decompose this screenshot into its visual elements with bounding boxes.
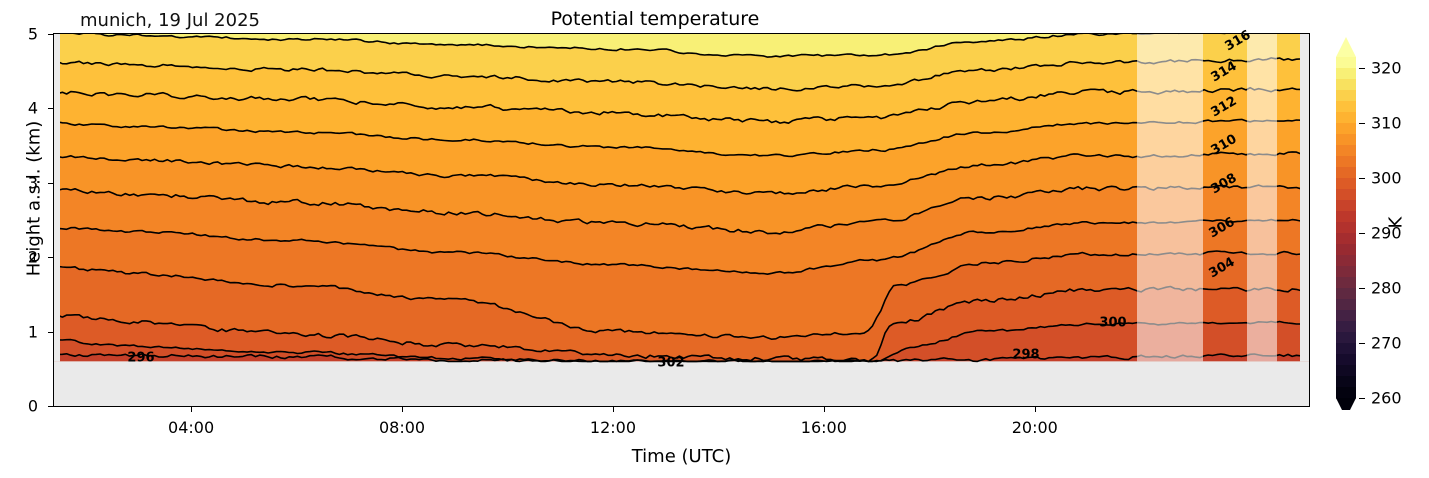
y-tick-mark: [48, 108, 53, 109]
contour-label: 296: [127, 351, 154, 366]
contour-plot: [54, 34, 1309, 406]
y-tick-mark: [48, 406, 53, 407]
colorbar-tick-mark: [1359, 68, 1365, 69]
y-tick-mark: [48, 332, 53, 333]
colorbar-tick-label: 300: [1371, 169, 1402, 188]
colorbar-tick-mark: [1359, 123, 1365, 124]
colorbar-tick-mark: [1359, 288, 1365, 289]
contour-label: 298: [1012, 348, 1039, 363]
x-tick-label: 08:00: [379, 418, 425, 437]
colorbar-tick-mark: [1359, 343, 1365, 344]
x-tick-label: 16:00: [801, 418, 847, 437]
x-axis-label: Time (UTC): [53, 446, 1310, 467]
plot-area[interactable]: [53, 33, 1310, 407]
x-tick-label: 04:00: [168, 418, 214, 437]
colorbar-tick-label: 260: [1371, 389, 1402, 408]
y-tick-mark: [48, 257, 53, 258]
figure: Potential temperature munich, 19 Jul 202…: [0, 0, 1429, 478]
colorbar-tick-label: 320: [1371, 59, 1402, 78]
colorbar-tick-label: 280: [1371, 279, 1402, 298]
colorbar-tick-label: 290: [1371, 224, 1402, 243]
colorbar-tick-mark: [1359, 178, 1365, 179]
colorbar-tick-mark: [1359, 398, 1365, 399]
y-tick-mark: [48, 183, 53, 184]
colorbar-tick-label: 310: [1371, 114, 1402, 133]
y-tick-label: 0: [10, 397, 38, 416]
y-tick-mark: [48, 34, 53, 35]
x-tick-mark: [824, 407, 825, 412]
colorbar[interactable]: K 320310300290280270260: [1334, 30, 1429, 410]
x-tick-mark: [402, 407, 403, 412]
x-tick-label: 20:00: [1012, 418, 1058, 437]
x-tick-label: 12:00: [590, 418, 636, 437]
y-axis-label: Height a.s.l. (km): [24, 69, 45, 329]
x-tick-mark: [613, 407, 614, 412]
contour-label: 302: [657, 356, 684, 371]
colorbar-gradient: [1334, 30, 1429, 410]
colorbar-tick-label: 270: [1371, 334, 1402, 353]
x-tick-mark: [1035, 407, 1036, 412]
subtitle-station-date: munich, 19 Jul 2025: [80, 10, 260, 31]
y-tick-label: 5: [10, 25, 38, 44]
contour-label: 300: [1099, 316, 1126, 331]
colorbar-tick-mark: [1359, 233, 1365, 234]
x-tick-mark: [191, 407, 192, 412]
